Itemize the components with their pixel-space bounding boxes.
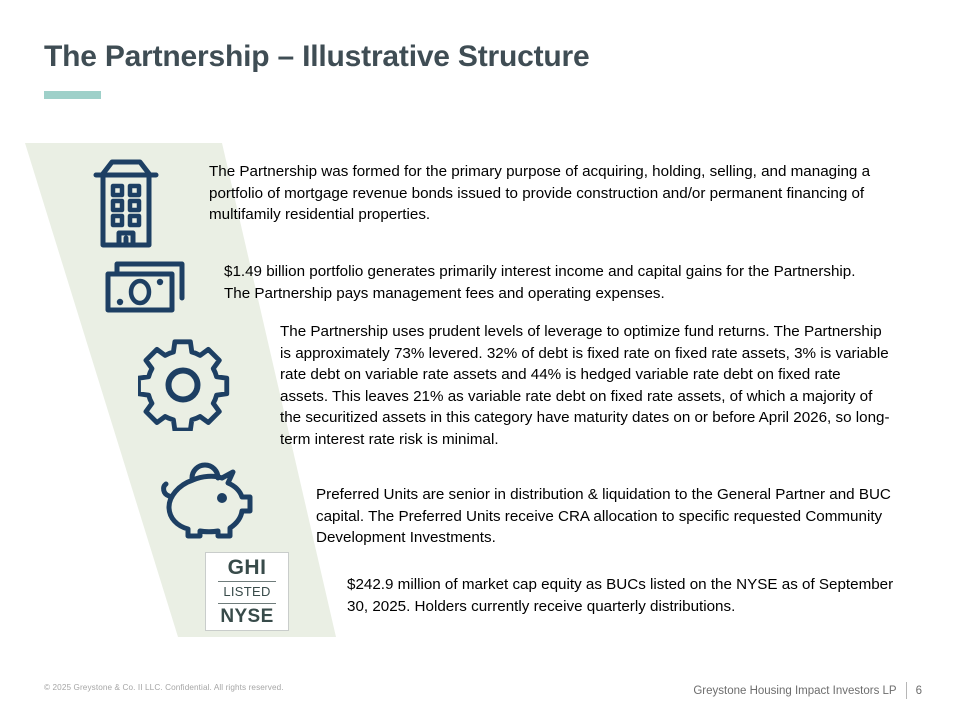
- badge-ticker: GHI: [228, 557, 267, 578]
- paragraph-preferred-units: Preferred Units are senior in distributi…: [316, 484, 908, 549]
- footer-copyright: © 2025 Greystone & Co. II LLC. Confident…: [44, 683, 284, 692]
- paragraph-purpose: The Partnership was formed for the prima…: [209, 161, 881, 226]
- paragraph-leverage: The Partnership uses prudent levels of l…: [280, 321, 890, 450]
- footer-right: Greystone Housing Impact Investors LP 6: [693, 682, 922, 699]
- nyse-listing-badge: GHI LISTED NYSE: [205, 552, 289, 631]
- cash-icon: [104, 258, 186, 314]
- page-title: The Partnership – Illustrative Structure: [44, 40, 590, 74]
- piggy-bank-icon: [160, 452, 260, 544]
- badge-listed-label: LISTED: [223, 585, 270, 599]
- title-accent-rule: [44, 91, 101, 99]
- footer-entity: Greystone Housing Impact Investors LP: [693, 685, 896, 697]
- footer-divider: [906, 682, 907, 699]
- badge-rule-top: [218, 581, 276, 582]
- building-icon: [88, 155, 164, 251]
- gear-icon: [138, 339, 230, 431]
- paragraph-portfolio: $1.49 billion portfolio generates primar…: [224, 261, 872, 304]
- page-number: 6: [916, 685, 922, 697]
- paragraph-market-cap: $242.9 million of market cap equity as B…: [347, 574, 895, 617]
- badge-rule-bottom: [218, 603, 276, 604]
- slide: The Partnership – Illustrative Structure: [0, 0, 960, 720]
- badge-exchange: NYSE: [220, 607, 273, 626]
